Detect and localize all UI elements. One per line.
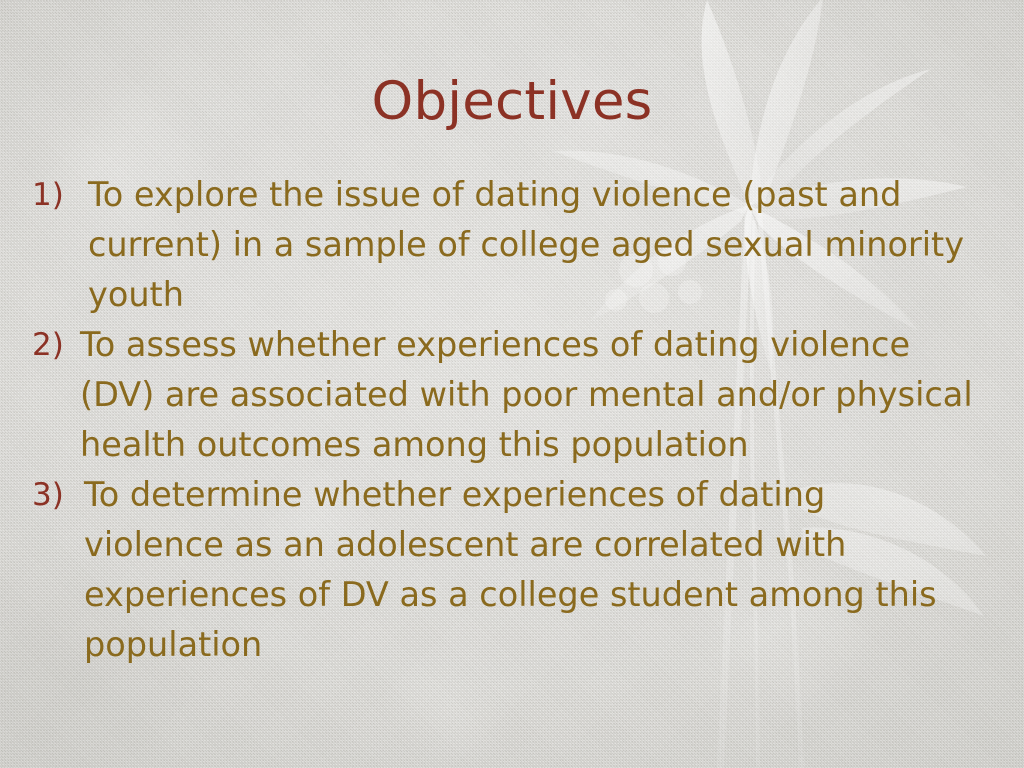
list-item: 3) To determine whether experiences of d… <box>32 470 994 670</box>
presentation-slide: Objectives 1) To explore the issue of da… <box>0 0 1024 768</box>
list-item-marker: 1) <box>32 170 88 220</box>
slide-content: Objectives 1) To explore the issue of da… <box>0 0 1024 768</box>
list-item-text: To determine whether experiences of dati… <box>84 470 974 670</box>
list-item-text: To explore the issue of dating violence … <box>88 170 993 320</box>
list-item: 1) To explore the issue of dating violen… <box>32 170 994 320</box>
objectives-list: 1) To explore the issue of dating violen… <box>32 170 994 670</box>
list-item: 2) To assess whether experiences of dati… <box>32 320 994 470</box>
list-item-marker: 2) <box>32 320 80 370</box>
list-item-text: To assess whether experiences of dating … <box>80 320 980 470</box>
slide-title: Objectives <box>0 74 1024 130</box>
list-item-marker: 3) <box>32 470 84 520</box>
